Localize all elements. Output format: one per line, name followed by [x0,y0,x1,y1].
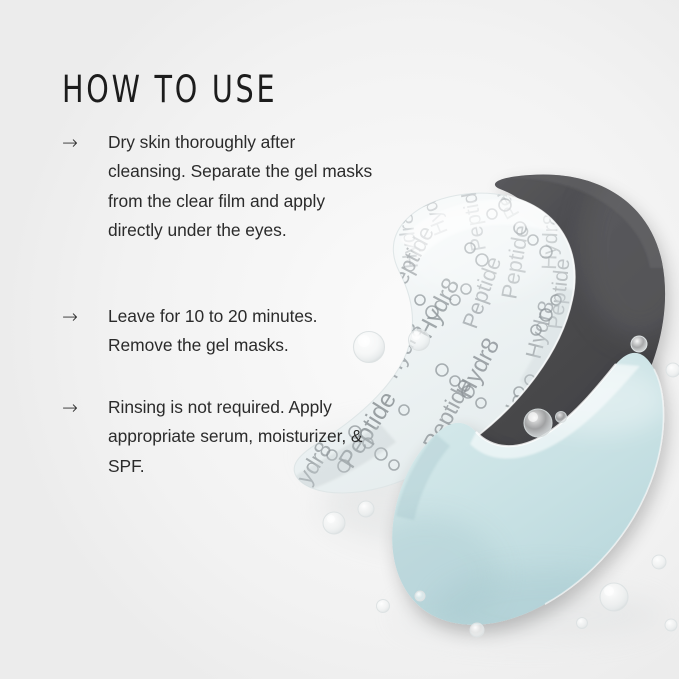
how-to-use-panel: Hydr8 Peptide Hydr8 Peptide Peptide Hydr… [0,0,679,679]
step-1-text: Dry skin thoroughly after cleansing. Sep… [108,128,376,246]
page-title: HOW TO USE [62,71,277,108]
list-item-step-1: → Dry skin thoroughly after cleansing. S… [62,128,376,246]
list-item-step-3: → Rinsing is not required. Apply appropr… [62,393,376,481]
list-item-step-2: → Leave for 10 to 20 minutes. Remove the… [62,302,376,361]
arrow-right-icon: → [62,128,108,157]
arrow-right-icon: → [62,393,108,422]
instructions-copy: HOW TO USE → Dry skin thoroughly after c… [0,0,400,679]
step-3-text: Rinsing is not required. Apply appropria… [108,393,376,481]
step-2-text: Leave for 10 to 20 minutes. Remove the g… [108,302,376,361]
arrow-right-icon: → [62,302,108,331]
